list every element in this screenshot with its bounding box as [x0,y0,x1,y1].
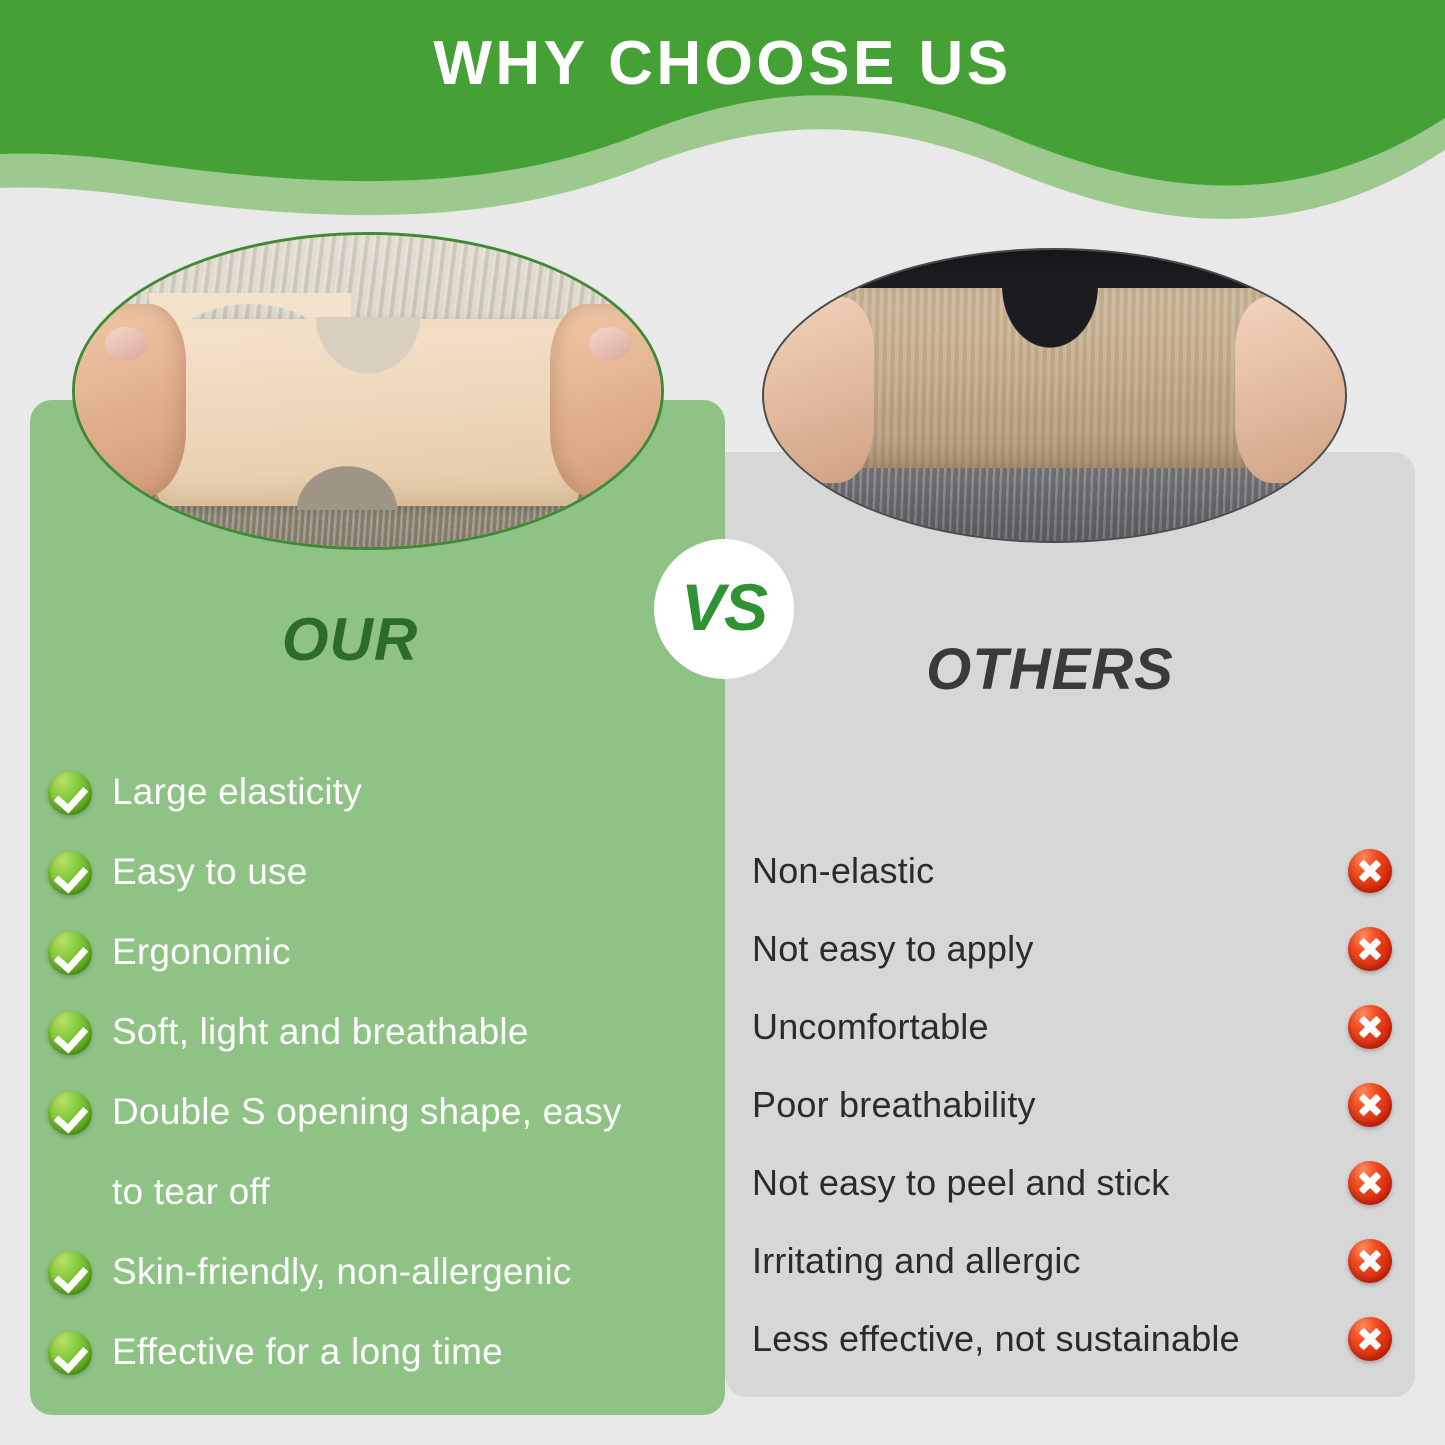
list-item: Easy to use [48,845,698,899]
list-item: Not easy to peel and stick [752,1144,1392,1222]
list-item: Less effective, not sustainable [752,1300,1392,1378]
x-circle-icon [1348,1005,1392,1049]
check-circle-icon [48,851,92,895]
list-indent-spacer [48,1165,92,1209]
list-item: Double S opening shape, easy [48,1085,698,1139]
others-drawbacks-list: Non-elastic Not easy to apply Uncomforta… [752,832,1392,1378]
list-item-label: Non-elastic [752,850,934,892]
check-circle-icon [48,1091,92,1135]
list-item-label: Not easy to apply [752,928,1034,970]
list-item-label: Uncomfortable [752,1006,989,1048]
list-item: Irritating and allergic [752,1222,1392,1300]
list-item: Effective for a long time [48,1325,698,1379]
list-item-label: Irritating and allergic [752,1240,1081,1282]
list-item-label: Soft, light and breathable [112,1005,529,1059]
list-item: Uncomfortable [752,988,1392,1066]
list-item-continuation: to tear off [48,1165,698,1219]
vs-badge: VS [654,539,794,679]
list-item: Skin-friendly, non-allergenic [48,1245,698,1299]
list-item-label: Double S opening shape, easy [112,1085,622,1139]
list-item: Not easy to apply [752,910,1392,988]
list-item-label: Less effective, not sustainable [752,1318,1240,1360]
x-circle-icon [1348,849,1392,893]
list-item: Large elasticity [48,765,698,819]
list-item-label: Not easy to peel and stick [752,1162,1169,1204]
list-item-label: Easy to use [112,845,308,899]
our-benefits-list: Large elasticity Easy to use Ergonomic S… [48,765,698,1405]
x-circle-icon [1348,927,1392,971]
list-item: Poor breathability [752,1066,1392,1144]
list-item-label: Ergonomic [112,925,291,979]
list-item: Ergonomic [48,925,698,979]
our-heading: OUR [30,605,670,674]
others-product-photo [762,248,1347,543]
our-product-photo [72,232,664,550]
check-circle-icon [48,1011,92,1055]
others-heading: OTHERS [760,636,1340,703]
list-item-label: Large elasticity [112,765,362,819]
vs-label: VS [681,574,767,640]
list-item-label: Skin-friendly, non-allergenic [112,1245,572,1299]
page-title: WHY CHOOSE US [0,30,1445,98]
x-circle-icon [1348,1239,1392,1283]
list-item: Soft, light and breathable [48,1005,698,1059]
list-item: Non-elastic [752,832,1392,910]
x-circle-icon [1348,1083,1392,1127]
list-item-label: Poor breathability [752,1084,1036,1126]
list-item-label: Effective for a long time [112,1325,503,1379]
x-circle-icon [1348,1317,1392,1361]
list-item-label: to tear off [112,1165,270,1219]
x-circle-icon [1348,1161,1392,1205]
check-circle-icon [48,1331,92,1375]
comparison-infographic: WHY CHOOSE US VS OUR OTHERS [0,0,1445,1445]
check-circle-icon [48,771,92,815]
check-circle-icon [48,931,92,975]
check-circle-icon [48,1251,92,1295]
